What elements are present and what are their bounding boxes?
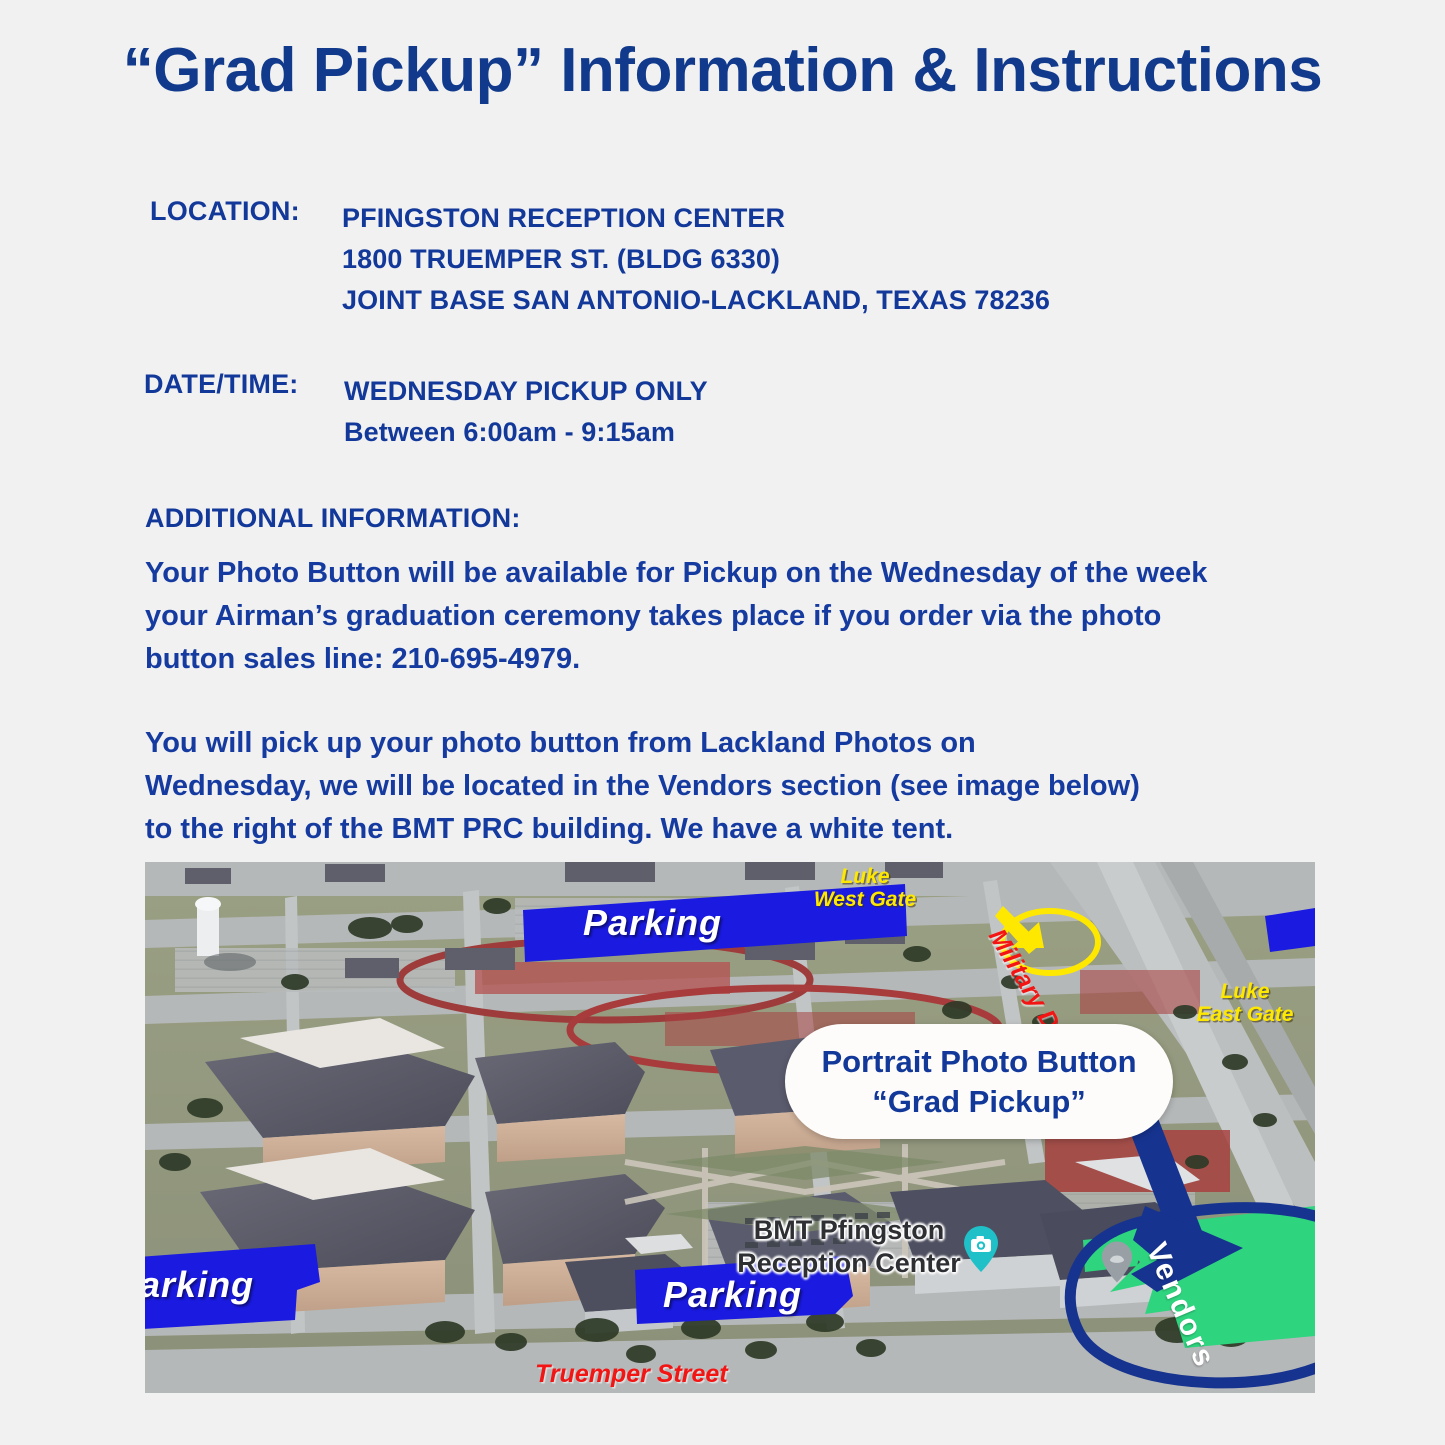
additional-paragraph-2: You will pick up your photo button from …	[145, 722, 1145, 851]
parking-polygon-left	[145, 1244, 320, 1330]
location-label: LOCATION:	[150, 198, 342, 225]
location-line-1: PFINGSTON RECEPTION CENTER	[342, 198, 1050, 239]
datetime-line-2: Between 6:00am - 9:15am	[344, 412, 708, 453]
map-pin-icon	[1101, 1240, 1133, 1284]
poster-page: “Grad Pickup” Information & Instructions…	[0, 0, 1445, 1445]
callout-line-1: Portrait Photo Button	[821, 1042, 1136, 1082]
location-line-2: 1800 TRUEMPER ST. (BLDG 6330)	[342, 239, 1050, 280]
datetime-line-1: WEDNESDAY PICKUP ONLY	[344, 371, 708, 412]
location-line-3: JOINT BASE SAN ANTONIO-LACKLAND, TEXAS 7…	[342, 280, 1050, 321]
campus-map-image: Parking Parking Parking Luke West Gate L…	[145, 862, 1315, 1393]
location-block: LOCATION: PFINGSTON RECEPTION CENTER 180…	[150, 198, 1050, 321]
callout-line-2: “Grad Pickup”	[872, 1082, 1086, 1122]
location-values: PFINGSTON RECEPTION CENTER 1800 TRUEMPER…	[342, 198, 1050, 321]
grad-pickup-callout: Portrait Photo Button “Grad Pickup”	[785, 1024, 1173, 1139]
camera-pin-icon	[963, 1225, 999, 1273]
datetime-label: DATE/TIME:	[144, 371, 344, 398]
datetime-values: WEDNESDAY PICKUP ONLY Between 6:00am - 9…	[344, 371, 708, 453]
page-title: “Grad Pickup” Information & Instructions	[0, 38, 1445, 103]
additional-information-heading: ADDITIONAL INFORMATION:	[145, 503, 521, 534]
additional-paragraph-1: Your Photo Button will be available for …	[145, 552, 1220, 681]
datetime-block: DATE/TIME: WEDNESDAY PICKUP ONLY Between…	[144, 371, 708, 453]
